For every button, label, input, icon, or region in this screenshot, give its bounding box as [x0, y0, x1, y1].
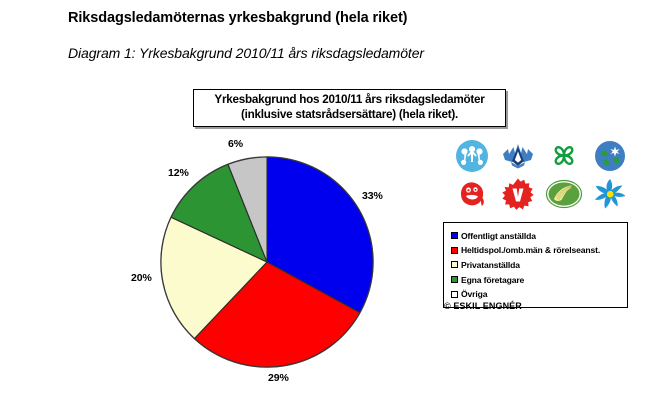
centerpartiet-logo [544, 138, 584, 174]
legend-item-label: Heltidspol./omb.män & rörelseanst. [461, 245, 600, 255]
moderaterna-logo [452, 138, 492, 174]
legend-item-label: Offentligt anställda [461, 231, 536, 241]
pie-slices [161, 157, 373, 367]
miljopartiet-logo [544, 176, 584, 212]
pie-value-label-ovriga: 6% [228, 138, 243, 150]
kristdemokraterna-logo [498, 138, 538, 174]
pie-value-label-privatanstallda: 20% [131, 272, 152, 284]
pie-chart [158, 152, 378, 374]
chart-title-box: Yrkesbakgrund hos 2010/11 års riksdagsle… [193, 89, 506, 127]
folkpartiet-logo [590, 176, 630, 212]
miljopartiet-globe-logo [590, 138, 630, 174]
legend-swatch-icon [451, 247, 458, 254]
page-title: Riksdagsledamöternas yrkesbakgrund (hela… [68, 10, 407, 26]
legend-item-label: Egna företagare [461, 275, 524, 285]
legend-swatch-icon [451, 261, 458, 268]
legend-swatch-icon [451, 232, 458, 239]
page-subtitle: Diagram 1: Yrkesbakgrund 2010/11 års rik… [68, 45, 424, 61]
chart-title-line-1: Yrkesbakgrund hos 2010/11 års riksdagsle… [198, 93, 501, 108]
pie-value-label-heltidspolitiker: 29% [268, 372, 289, 384]
legend-item: Övriga [451, 288, 622, 301]
pie-value-label-egna-foretagare: 12% [168, 167, 189, 179]
legend-item: Privatanställda [451, 258, 622, 271]
legend-item: Heltidspol./omb.män & rörelseanst. [451, 244, 622, 257]
socialdemokraterna-logo [452, 176, 492, 212]
legend-swatch-icon [451, 291, 458, 298]
legend-item-label: Övriga [461, 289, 487, 299]
pie-value-label-offentligt-anstallda: 33% [362, 190, 383, 202]
legend-swatch-icon [451, 276, 458, 283]
legend-item-label: Privatanställda [461, 260, 520, 270]
copyright-notice: © ESKIL ENGNÉR [444, 301, 522, 311]
vansterpartiet-logo [498, 176, 538, 212]
legend-item: Offentligt anställda [451, 229, 622, 242]
chart-title-line-2: (inklusive statsrådsersättare) (hela rik… [198, 108, 501, 123]
legend-item: Egna företagare [451, 273, 622, 286]
chart-legend: Offentligt anställda Heltidspol./omb.män… [443, 222, 628, 308]
pie-chart-svg [158, 152, 378, 374]
party-logos-group [449, 137, 633, 213]
